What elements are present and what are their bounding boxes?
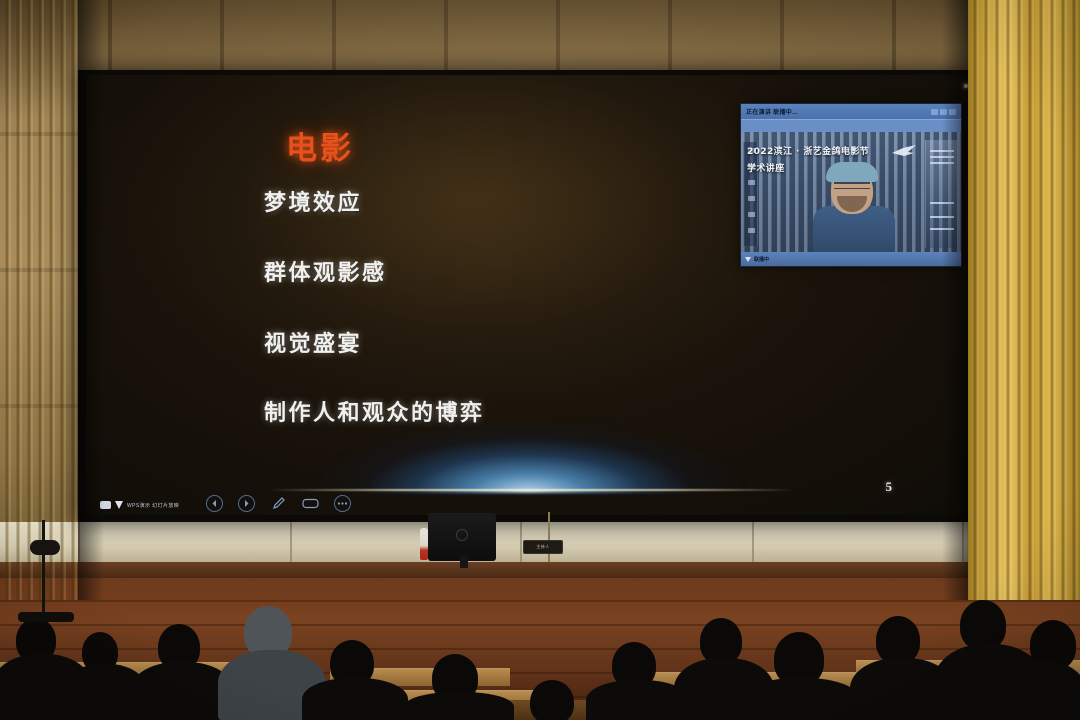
slide-bullet-2: 群体观影感 (264, 255, 387, 287)
curtain-left (0, 0, 78, 600)
lecture-hall-scene: 电影 梦境效应 群体观影感 视觉盛宴 制作人和观众的博弈 5 正在演讲 联播中… (0, 0, 1080, 720)
microphone-head (30, 540, 60, 555)
audience-body (742, 678, 860, 720)
curtain-right-shadow (942, 0, 968, 600)
audience-body (404, 692, 514, 720)
video-window-title: 正在演讲 联播中… (746, 107, 798, 116)
wps-brand: WPS演示 幻灯片放映 (100, 501, 179, 509)
wps-arrow-icon (115, 501, 123, 509)
video-window-titlebar[interactable]: 正在演讲 联播中… (741, 104, 961, 119)
more-options-button[interactable] (334, 495, 351, 512)
video-feed: 2022滨江 · 浙艺金鸽电影节 学术讲座 (741, 132, 961, 252)
video-overlay-text: 2022滨江 · 浙艺金鸽电影节 学术讲座 (747, 144, 897, 178)
next-slide-button[interactable] (238, 495, 255, 512)
monitor-logo-icon (456, 529, 468, 541)
embedded-video-window[interactable]: 正在演讲 联播中… (740, 103, 962, 267)
video-window-subbar (741, 119, 961, 132)
broadcast-icon (745, 257, 751, 262)
video-overlay-line-1: 2022滨江 · 浙艺金鸽电影节 (747, 144, 897, 161)
projection-screen: 电影 梦境效应 群体观影感 视觉盛宴 制作人和观众的博弈 5 正在演讲 联播中… (86, 75, 970, 515)
water-bottle (420, 528, 428, 560)
previous-slide-button[interactable] (206, 495, 223, 512)
audience-body (302, 678, 408, 720)
video-footer-text: 联播中 (754, 256, 769, 263)
speaker-glasses (834, 182, 870, 189)
video-overlay-line-2: 学术讲座 (747, 161, 897, 178)
audience-body (1006, 662, 1080, 720)
audience-head (530, 680, 574, 720)
wps-brand-label: WPS演示 幻灯片放映 (127, 502, 179, 509)
slide-bullet-1: 梦境效应 (264, 185, 362, 217)
blue-dome-glow-graphic (308, 397, 748, 493)
audience-head (876, 616, 920, 664)
video-window-footer: 联播中 (741, 252, 961, 267)
microphone-base (18, 612, 74, 622)
presentation-toolbar: WPS演示 幻灯片放映 (86, 487, 970, 515)
slide-title: 电影 (286, 123, 354, 168)
name-plate-text: 主持人 (536, 544, 549, 550)
curtain-right (968, 0, 1080, 600)
projection-screen-frame: 电影 梦境效应 群体观影感 视觉盛宴 制作人和观众的博弈 5 正在演讲 联播中… (78, 70, 978, 522)
microphone-stand (548, 512, 550, 562)
monitor-stand (460, 556, 468, 568)
curtain-left-shadow (78, 0, 104, 600)
name-plate-sign: 主持人 (523, 540, 563, 554)
whiteboard-button[interactable] (302, 495, 319, 512)
audience-head (960, 600, 1006, 650)
pen-annotation-button[interactable] (270, 495, 287, 512)
confidence-monitor (428, 513, 496, 561)
presentation-controls (206, 495, 351, 512)
stage-ledge (0, 562, 1080, 578)
minimize-icon[interactable] (931, 109, 938, 115)
slide-bullet-3: 视觉盛宴 (264, 326, 362, 358)
microphone-boom (42, 520, 45, 620)
